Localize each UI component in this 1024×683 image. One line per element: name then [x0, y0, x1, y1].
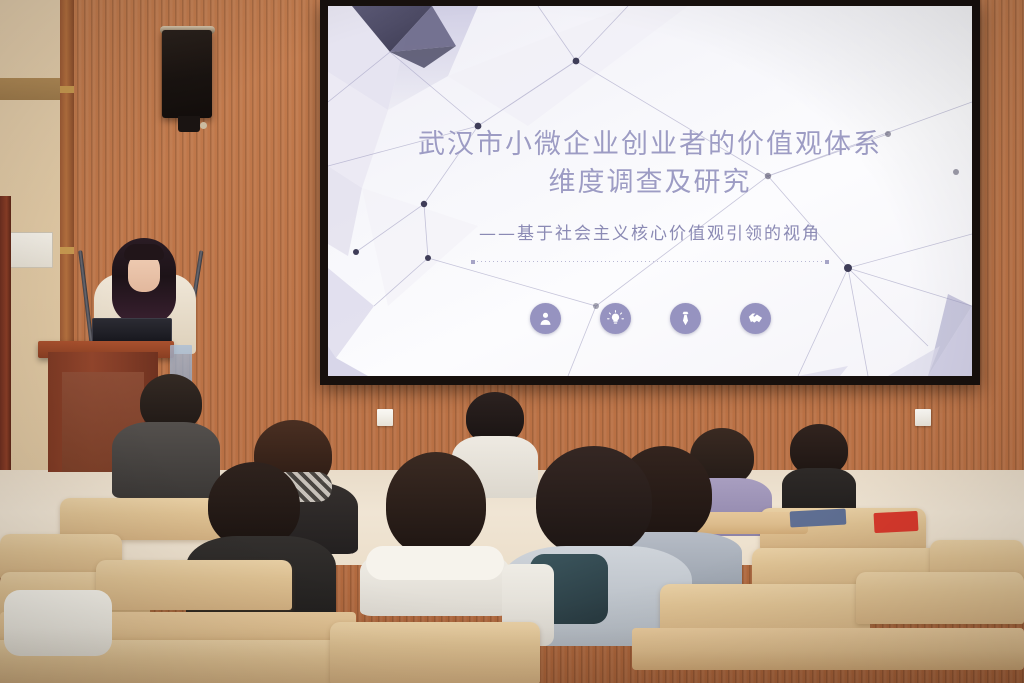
white-bag [4, 590, 112, 656]
desk-front-right [632, 628, 1024, 670]
wall-switch-right[interactable] [915, 409, 931, 426]
bench-front-far-right [856, 572, 1024, 624]
slide-icon-row [328, 303, 972, 334]
wall-speaker-icon [162, 30, 212, 118]
necktie-icon [670, 303, 701, 334]
projection-screen: 武汉市小微企业创业者的价值观体系 维度调查及研究 ——基于社会主义核心价值观引领… [320, 0, 980, 385]
left-wall-band [0, 78, 66, 100]
presenter-fringe [124, 244, 164, 260]
wall-switch-left[interactable] [377, 409, 393, 426]
lightbulb-icon [600, 303, 631, 334]
door-frame-latch-lower [60, 247, 74, 254]
notebook[interactable] [790, 509, 847, 528]
presentation-photo: 武汉市小微企业创业者的价值观体系 维度调查及研究 ——基于社会主义核心价值观引领… [0, 0, 1024, 683]
fur-collar [366, 546, 504, 580]
speaker-mount-knob [200, 122, 207, 129]
person-icon [530, 303, 561, 334]
bench-nearest-center [330, 622, 540, 683]
wall-sign [8, 232, 53, 268]
presentation-slide: 武汉市小微企业创业者的价值观体系 维度调查及研究 ——基于社会主义核心价值观引领… [328, 6, 972, 376]
red-folder[interactable] [874, 511, 919, 533]
bench-front-left [96, 560, 292, 610]
door-frame-latch-upper [60, 86, 74, 93]
speaker-bracket [178, 116, 200, 132]
audience-person-front-center [360, 452, 510, 612]
handshake-icon [740, 303, 771, 334]
audience-person-back-right [780, 424, 858, 514]
